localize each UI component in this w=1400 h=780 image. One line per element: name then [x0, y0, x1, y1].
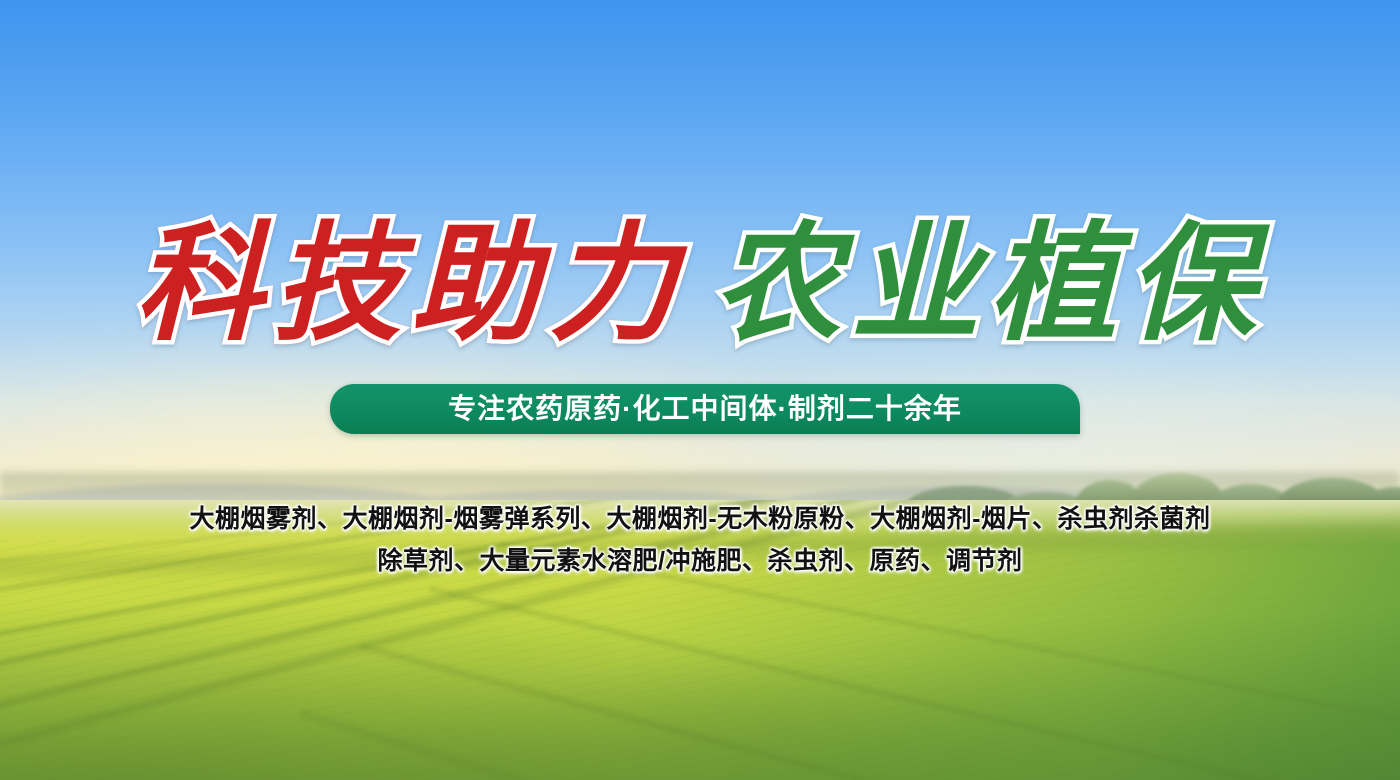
tagline-banner: 专注农药原药·化工中间体·制剂二十余年: [330, 384, 1080, 434]
headline: 科技助力农业植保: [0, 208, 1400, 360]
hero-banner: 科技助力农业植保 专注农药原药·化工中间体·制剂二十余年 大棚烟雾剂、大棚烟剂-…: [0, 0, 1400, 780]
product-line-2: 除草剂、大量元素水溶肥/冲施肥、杀虫剂、原药、调节剂: [0, 540, 1400, 582]
tagline-text: 专注农药原药·化工中间体·制剂二十余年: [448, 395, 962, 423]
field-vignette: [0, 560, 1400, 780]
headline-segment-green: 农业植保: [713, 208, 1265, 360]
product-list: 大棚烟雾剂、大棚烟剂-烟雾弹系列、大棚烟剂-无木粉原粉、大棚烟剂-烟片、杀虫剂杀…: [0, 498, 1400, 582]
product-line-1: 大棚烟雾剂、大棚烟剂-烟雾弹系列、大棚烟剂-无木粉原粉、大棚烟剂-烟片、杀虫剂杀…: [0, 498, 1400, 540]
headline-segment-red: 科技助力: [135, 208, 687, 360]
